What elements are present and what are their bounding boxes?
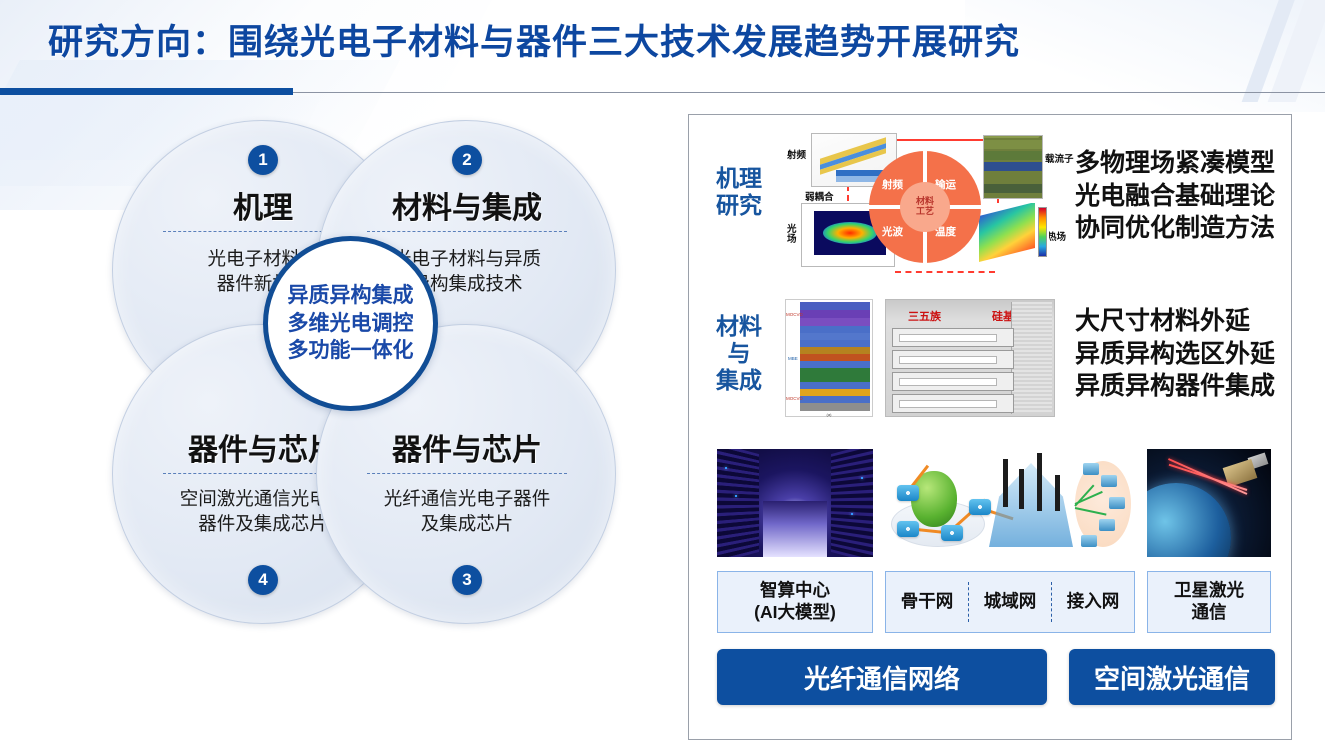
arrow-top-icon: [897, 139, 995, 141]
bullet-mechanism-2: 光电融合基础理论: [1075, 180, 1275, 213]
epi-layer-4: [800, 326, 870, 333]
donut-center-line2: 工艺: [916, 207, 934, 217]
arrow-bottom-icon: [895, 271, 995, 273]
data-center-rack-right: [831, 449, 873, 557]
city-cluster: [989, 463, 1073, 547]
epi-layer-3: [800, 318, 870, 326]
epitaxy-stack-figure: MOCVD MBE MOCVD (a): [785, 299, 873, 417]
venn-badge-2: 2: [452, 145, 482, 175]
venn-badge-1: 1: [248, 145, 278, 175]
carrier-layer-3: [984, 162, 1042, 171]
wafer-platform-figure: 三五族 硅基: [885, 299, 1055, 417]
fig-label-rf: 射频: [787, 147, 806, 161]
panel-row-mechanism: 机理 研究 射频 光场 弱耦合 强耦合 载流子 热场: [689, 121, 1293, 289]
carrier-layer-1: [984, 140, 1042, 149]
satellite-laser-photo: [1147, 449, 1271, 557]
city-tower: [1019, 469, 1024, 509]
venn-title-2: 材料与集成: [317, 183, 617, 227]
bullet-mechanism-1: 多物理场紧凑模型: [1075, 147, 1275, 180]
header-rule-accent: [0, 88, 293, 95]
venn-center-circle[interactable]: 异质异构集成 多维光电调控 多功能一体化: [263, 236, 438, 411]
panel-row-buttons: 光纤通信网络 空间激光通信: [689, 643, 1293, 713]
donut-center: 材料 工艺: [900, 182, 950, 232]
venn-divider-3: [367, 473, 567, 474]
panel-row-materials: 材料 与 集成 MOCVD MBE MOCVD (a) 三五族: [689, 293, 1293, 439]
wafer-side-column: [1011, 302, 1052, 414]
rack-led: [725, 467, 727, 469]
access-device-icon: [1099, 519, 1115, 531]
wafer-tag-iii-v: 三五族: [908, 308, 941, 324]
venn-center-line-2: 多维光电调控: [288, 310, 414, 338]
caption-data-center-line2: (AI大模型): [754, 602, 836, 624]
venn-desc-3: 光纤通信光电子器件 及集成芯片: [322, 487, 612, 537]
fig-label-carrier: 载流子: [1045, 151, 1074, 165]
panel-row-photos: [689, 443, 1293, 561]
city-tower: [1037, 453, 1042, 511]
venn-badge-3: 3: [452, 565, 482, 595]
bullets-materials: 大尺寸材料外延 异质异构选区外延 异质异构器件集成: [1075, 305, 1275, 403]
epi-layer-substrate: [800, 403, 870, 411]
bullet-mechanism-3: 协同优化制造方法: [1075, 212, 1275, 245]
carrier-layer-5: [984, 184, 1042, 193]
caption-network-backbone: 骨干网: [886, 581, 968, 623]
venn-center-line-3: 多功能一体化: [288, 337, 414, 365]
row-label-materials-line2: 与: [703, 340, 775, 367]
mechanism-figure: 射频 光场 弱耦合 强耦合 载流子 热场: [787, 129, 1067, 289]
epi-layer-14: [800, 396, 870, 403]
row-label-materials-line1: 材料: [703, 313, 775, 340]
button-fiber-network[interactable]: 光纤通信网络: [717, 649, 1047, 705]
data-center-photo: [717, 449, 873, 557]
wafer-rack-2: [892, 350, 1014, 369]
caption-box-network[interactable]: 骨干网 城域网 接入网: [885, 571, 1135, 633]
epi-layer-9: [800, 361, 870, 368]
wafer-rack-1: [892, 328, 1014, 347]
data-center-rack-left: [717, 449, 759, 557]
thermal-colorbar: [1038, 207, 1047, 257]
epi-layer-11: [800, 375, 870, 382]
city-tower: [1003, 459, 1008, 507]
epi-figure-caption: (a): [786, 412, 872, 417]
caption-box-satellite[interactable]: 卫星激光 通信: [1147, 571, 1271, 633]
fig-label-optical-field: 光场: [787, 225, 799, 246]
venn-diagram: 1 机理 光电子材料与 器件新机理 2 材料与集成 光电子材料与异质 异构集成技…: [20, 112, 680, 752]
caption-satellite-line1: 卫星激光: [1174, 580, 1244, 602]
slide-header: 研究方向：围绕光电子材料与器件三大技术发展趋势开展研究: [0, 0, 1325, 112]
access-device-icon: [1081, 535, 1097, 547]
carrier-stack-thumbnail: [983, 135, 1043, 199]
router-node-icon: [941, 525, 963, 541]
venn-divider-2: [367, 231, 567, 232]
panel-row-captions: 智算中心 (AI大模型) 骨干网 城域网 接入网 卫星激光 通信: [689, 565, 1293, 637]
bullet-materials-1: 大尺寸材料外延: [1075, 305, 1275, 338]
caption-network-access: 接入网: [1052, 581, 1134, 623]
row-label-mechanism-line1: 机理: [703, 165, 775, 192]
rack-led: [861, 477, 863, 479]
physics-donut-diagram: 射频 输运 光波 温度 材料 工艺: [869, 151, 981, 263]
rack-led: [735, 495, 737, 497]
row-label-mechanism: 机理 研究: [703, 165, 775, 219]
venn-center-line-1: 异质异构集成: [288, 282, 414, 310]
fig-label-weak-coupling: 弱耦合: [805, 189, 834, 203]
rack-led: [851, 513, 853, 515]
page-title: 研究方向：围绕光电子材料与器件三大技术发展趋势开展研究: [48, 14, 1020, 65]
data-center-aisle: [763, 501, 827, 557]
carrier-layer-4: [984, 173, 1042, 182]
venn-title-3: 器件与芯片: [317, 425, 617, 469]
epi-layer-1: [800, 302, 870, 310]
epi-layer-10: [800, 368, 870, 375]
thermal-field-thumbnail: [977, 203, 1049, 263]
access-device-icon: [1101, 475, 1117, 487]
row-label-mechanism-line2: 研究: [703, 192, 775, 219]
router-node-icon: [897, 521, 919, 537]
fig-label-thermal-field: 热场: [1047, 229, 1066, 243]
epi-layer-7: [800, 347, 870, 354]
epi-side-label-mocvd-top: MOCVD: [786, 312, 803, 317]
city-tower: [1055, 475, 1060, 511]
row-label-materials-line3: 集成: [703, 367, 775, 394]
bullet-materials-2: 异质异构选区外延: [1075, 338, 1275, 371]
epi-layer-12: [800, 382, 870, 389]
row-label-materials: 材料 与 集成: [703, 313, 775, 394]
epi-side-label-mocvd-bottom: MOCVD: [786, 396, 803, 401]
button-space-laser[interactable]: 空间激光通信: [1069, 649, 1275, 705]
optical-mode-blob: [823, 222, 877, 244]
epi-side-label-mbe: MBE: [788, 356, 798, 361]
thermal-body: [979, 203, 1035, 262]
epi-layer-2: [800, 310, 870, 318]
venn-desc-3-line2: 及集成芯片: [322, 512, 612, 537]
caption-network-metro: 城域网: [969, 581, 1051, 623]
epi-layer-5: [800, 333, 870, 340]
right-panel: 机理 研究 射频 光场 弱耦合 强耦合 载流子 热场: [688, 114, 1292, 740]
donut-quadrant-rf: 射频: [882, 177, 903, 192]
venn-desc-3-line1: 光纤通信光电子器件: [322, 487, 612, 512]
donut-quadrant-lightwave: 光波: [882, 224, 903, 239]
bullet-materials-3: 异质异构器件集成: [1075, 370, 1275, 403]
caption-data-center-line1: 智算中心: [754, 580, 836, 602]
carrier-layer-2: [984, 151, 1042, 160]
wafer-rack-3: [892, 372, 1014, 391]
venn-badge-4: 4: [248, 565, 278, 595]
carrier-stack-top-face: [983, 135, 1043, 138]
epi-layer-13: [800, 389, 870, 396]
caption-box-data-center[interactable]: 智算中心 (AI大模型): [717, 571, 873, 633]
wafer-rack-4: [892, 394, 1014, 413]
caption-satellite-line2: 通信: [1174, 602, 1244, 624]
router-node-icon: [969, 499, 991, 515]
epi-layer-6: [800, 340, 870, 347]
access-device-icon: [1083, 463, 1099, 475]
access-device-icon: [1109, 497, 1125, 509]
bullets-mechanism: 多物理场紧凑模型 光电融合基础理论 协同优化制造方法: [1075, 147, 1275, 245]
router-node-icon: [897, 485, 919, 501]
epi-layer-8: [800, 354, 870, 361]
earth-globe: [1147, 483, 1231, 557]
network-topology-photo: [885, 449, 1135, 557]
